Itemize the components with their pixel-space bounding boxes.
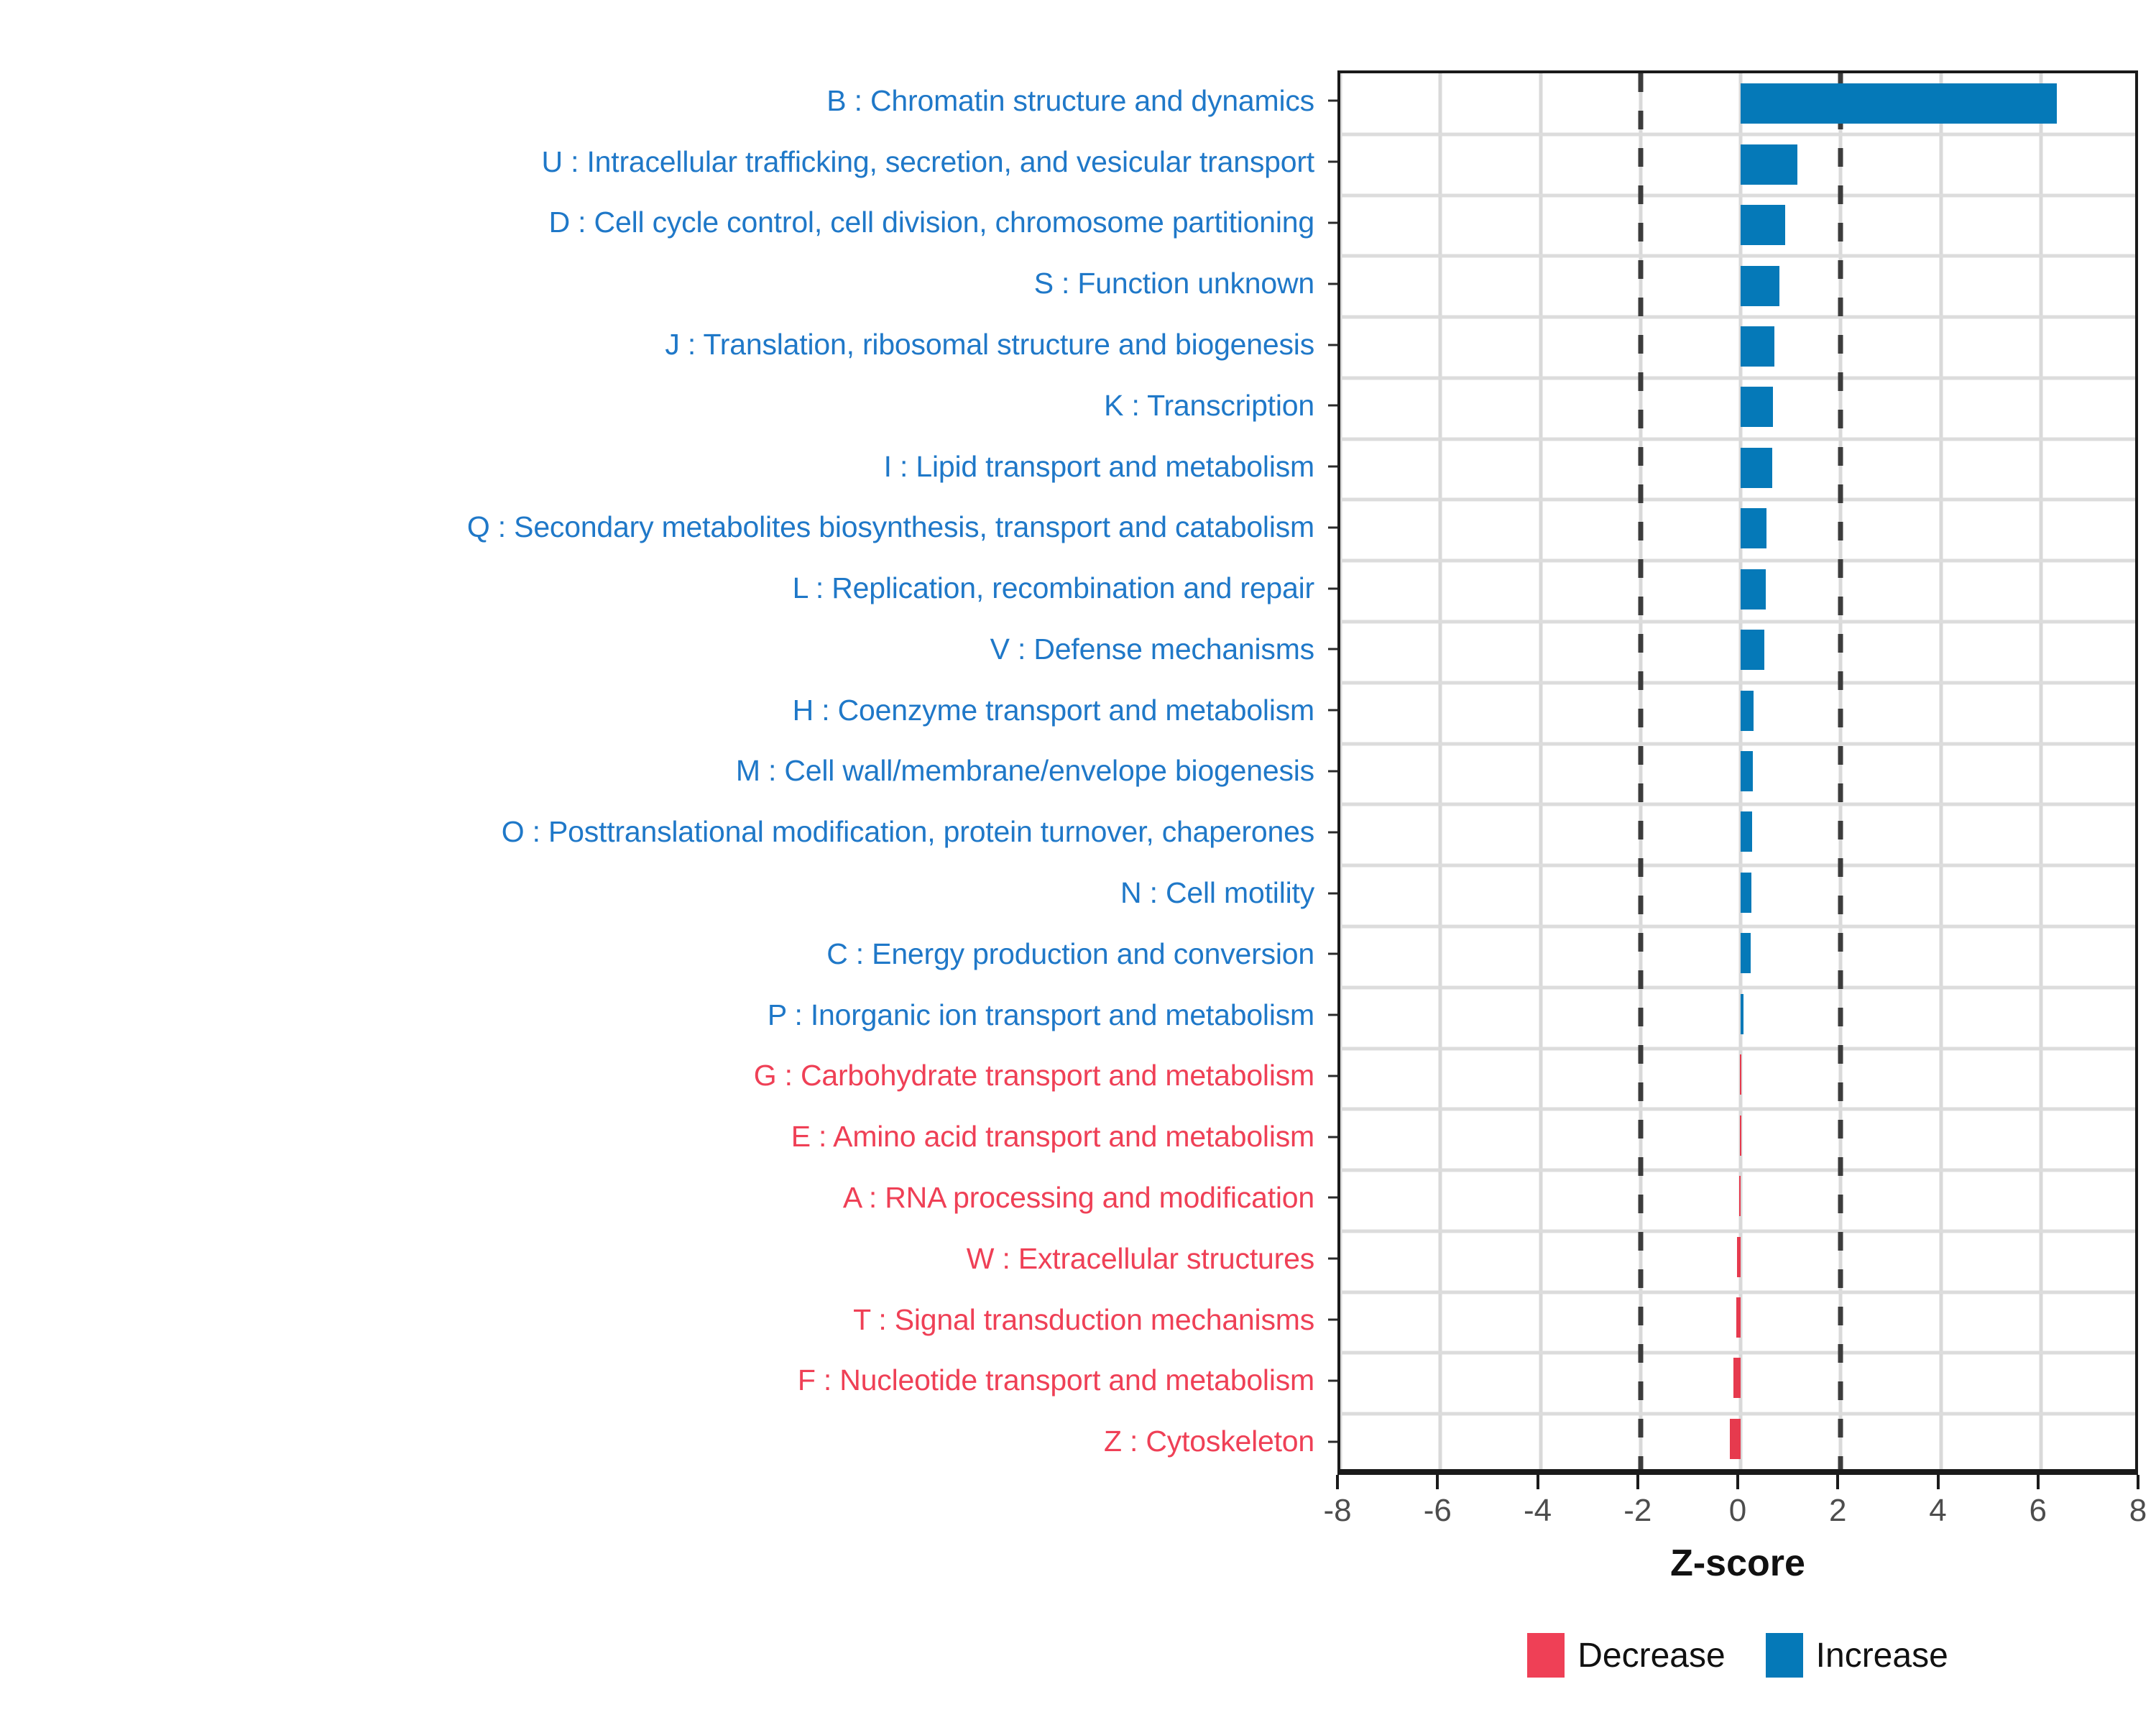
bar[interactable]: [1741, 205, 1785, 245]
bar[interactable]: [1741, 144, 1797, 185]
x-tick: [1937, 1475, 1940, 1489]
legend-item[interactable]: Decrease: [1527, 1633, 1725, 1678]
bar-row: [1340, 498, 2135, 558]
bar[interactable]: [1741, 83, 2057, 124]
category-label: G : Carbohydrate transport and metabolis…: [0, 1046, 1326, 1107]
bar[interactable]: [1741, 994, 1743, 1034]
y-tick: [1326, 1228, 1337, 1289]
y-tick: [1326, 680, 1337, 741]
bar[interactable]: [1741, 751, 1753, 791]
x-tick-label: 4: [1929, 1493, 1946, 1529]
legend-label: Increase: [1816, 1636, 1948, 1675]
bar-row: [1340, 984, 2135, 1044]
category-label: O : Posttranslational modification, prot…: [0, 801, 1326, 862]
category-label: V : Defense mechanisms: [0, 619, 1326, 680]
x-tick: [1636, 1475, 1639, 1489]
category-label-column: B : Chromatin structure and dynamicsU : …: [0, 70, 1326, 1472]
bar[interactable]: [1741, 933, 1751, 973]
category-label: B : Chromatin structure and dynamics: [0, 70, 1326, 132]
y-tick: [1326, 375, 1337, 436]
bar[interactable]: [1741, 387, 1773, 427]
bar-row: [1340, 559, 2135, 620]
y-tick: [1326, 497, 1337, 558]
legend-swatch: [1527, 1633, 1565, 1678]
category-label: I : Lipid transport and metabolism: [0, 436, 1326, 497]
x-tick-label: -6: [1424, 1493, 1452, 1529]
bar-row: [1340, 1105, 2135, 1165]
x-tick-label: 6: [2030, 1493, 2047, 1529]
bar[interactable]: [1741, 326, 1774, 367]
category-label: C : Energy production and conversion: [0, 924, 1326, 985]
category-label: H : Coenzyme transport and metabolism: [0, 680, 1326, 741]
x-tick-label: 0: [1729, 1493, 1746, 1529]
bar-row: [1340, 741, 2135, 801]
y-tick: [1326, 862, 1337, 924]
category-label: W : Extracellular structures: [0, 1228, 1326, 1289]
bar[interactable]: [1741, 266, 1779, 306]
bar-row: [1340, 680, 2135, 740]
category-label: N : Cell motility: [0, 862, 1326, 924]
category-label: S : Function unknown: [0, 253, 1326, 314]
y-tick: [1326, 1289, 1337, 1351]
y-tick: [1326, 436, 1337, 497]
bar-row: [1340, 862, 2135, 923]
bar-row: [1340, 73, 2135, 134]
category-label: U : Intracellular trafficking, secretion…: [0, 132, 1326, 193]
bar-row: [1340, 1409, 2135, 1469]
category-label: D : Cell cycle control, cell division, c…: [0, 193, 1326, 254]
y-tick: [1326, 619, 1337, 680]
bar-row: [1340, 1226, 2135, 1287]
category-label: L : Replication, recombination and repai…: [0, 558, 1326, 619]
x-axis-title: Z-score: [1337, 1542, 2138, 1585]
legend-label: Decrease: [1577, 1636, 1725, 1675]
legend-item[interactable]: Increase: [1766, 1633, 1948, 1678]
bar[interactable]: [1737, 1237, 1741, 1277]
y-tick: [1326, 741, 1337, 802]
x-tick-label: -2: [1623, 1493, 1651, 1529]
y-tick: [1326, 1106, 1337, 1167]
y-tick: [1326, 132, 1337, 193]
x-tick: [1836, 1475, 1839, 1489]
category-label: K : Transcription: [0, 375, 1326, 436]
bar[interactable]: [1741, 873, 1751, 913]
bar[interactable]: [1741, 569, 1766, 609]
bar[interactable]: [1740, 1115, 1741, 1156]
plot-panel: [1337, 70, 2138, 1472]
bar[interactable]: [1736, 1297, 1741, 1338]
category-label: T : Signal transduction mechanisms: [0, 1289, 1326, 1351]
x-tick-label: -4: [1524, 1493, 1552, 1529]
bar-row: [1340, 377, 2135, 437]
bar[interactable]: [1733, 1358, 1741, 1398]
bar[interactable]: [1741, 811, 1752, 852]
category-label: Z : Cytoskeleton: [0, 1411, 1326, 1472]
bar-row: [1340, 255, 2135, 316]
y-tick: [1326, 253, 1337, 314]
y-tick: [1326, 70, 1337, 132]
bar-row: [1340, 1348, 2135, 1408]
x-tick-label: 8: [2129, 1493, 2147, 1529]
bar-row: [1340, 134, 2135, 194]
y-tick: [1326, 1046, 1337, 1107]
bar[interactable]: [1741, 508, 1766, 548]
y-tick: [1326, 924, 1337, 985]
category-label: Q : Secondary metabolites biosynthesis, …: [0, 497, 1326, 558]
category-label: E : Amino acid transport and metabolism: [0, 1106, 1326, 1167]
category-label: J : Translation, ribosomal structure and…: [0, 314, 1326, 375]
bar[interactable]: [1730, 1419, 1741, 1459]
category-label: A : RNA processing and modification: [0, 1167, 1326, 1228]
y-tick: [1326, 801, 1337, 862]
bar-row: [1340, 923, 2135, 983]
category-label: F : Nucleotide transport and metabolism: [0, 1350, 1326, 1411]
bar-row: [1340, 1044, 2135, 1105]
legend-swatch: [1766, 1633, 1803, 1678]
y-tick: [1326, 314, 1337, 375]
x-tick-label: 2: [1829, 1493, 1846, 1529]
bar-row: [1340, 1166, 2135, 1226]
bar-row: [1340, 316, 2135, 377]
bar[interactable]: [1741, 691, 1754, 731]
category-label: P : Inorganic ion transport and metaboli…: [0, 985, 1326, 1046]
bar-row: [1340, 620, 2135, 680]
x-tick: [1436, 1475, 1439, 1489]
bar[interactable]: [1741, 630, 1764, 670]
x-tick: [2137, 1475, 2139, 1489]
cog-zscore-figure: B : Chromatin structure and dynamicsU : …: [0, 0, 2156, 1725]
y-tick: [1326, 1411, 1337, 1472]
legend: DecreaseIncrease: [1337, 1633, 2138, 1678]
bar-row: [1340, 438, 2135, 498]
y-tick: [1326, 193, 1337, 254]
x-tick: [1736, 1475, 1739, 1489]
bar-row: [1340, 1287, 2135, 1348]
x-tick: [2037, 1475, 2040, 1489]
y-tick: [1326, 985, 1337, 1046]
x-tick-label: -8: [1323, 1493, 1351, 1529]
bar[interactable]: [1739, 1176, 1741, 1216]
y-tick: [1326, 558, 1337, 619]
x-tick: [1537, 1475, 1539, 1489]
bar[interactable]: [1741, 448, 1772, 488]
category-label: M : Cell wall/membrane/envelope biogenes…: [0, 741, 1326, 802]
bar-row: [1340, 801, 2135, 862]
bars-layer: [1340, 73, 2135, 1469]
bar-row: [1340, 195, 2135, 255]
y-tick: [1326, 1167, 1337, 1228]
bar[interactable]: [1740, 1054, 1741, 1095]
y-axis-tick-marks: [1326, 70, 1337, 1472]
x-tick: [1336, 1475, 1339, 1489]
y-tick: [1326, 1350, 1337, 1411]
